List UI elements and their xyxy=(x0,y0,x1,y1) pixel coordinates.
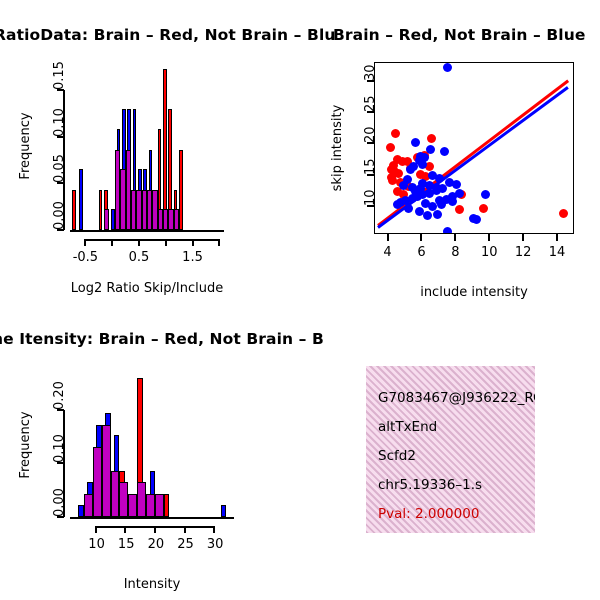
intensity_hist-x-tick xyxy=(184,526,186,533)
ratio_hist-x-ticklabel: -0.5 xyxy=(71,250,101,265)
scatter-point-blue xyxy=(411,138,420,147)
scatter-y-ticklabel: 20 xyxy=(363,127,378,144)
scatter-x-tick xyxy=(488,234,490,241)
scatter-y-ticklabel: 15 xyxy=(363,158,378,175)
scatter-x-ticklabel: 8 xyxy=(445,245,465,260)
intensity_hist-bar-overlap xyxy=(128,494,137,517)
intensity_hist-bar-overlap xyxy=(146,494,155,517)
intensity_hist-bar-overlap xyxy=(119,482,128,517)
ratio_hist-x-axis xyxy=(85,239,219,241)
ratio_hist-x-tick xyxy=(111,239,113,246)
intensity_hist-x-tick xyxy=(213,526,215,533)
ratio_hist-x-ticklabel: 0.5 xyxy=(128,250,150,265)
info-line: chr5.19336–1.s xyxy=(378,477,482,493)
scatter-point-blue xyxy=(418,160,427,169)
intensity_hist-y-ticklabel: 0.10 xyxy=(52,434,67,463)
scatter-point-blue xyxy=(393,200,402,209)
scatter-point-blue xyxy=(452,180,461,189)
ratio_hist-bar-overlap xyxy=(104,209,109,230)
scatter-point-blue xyxy=(421,199,430,208)
ratio_hist-x-ticklabel: 1.5 xyxy=(181,250,203,265)
intensity_hist-bar-overlap xyxy=(93,447,102,517)
intensity_hist-bar-overlap xyxy=(137,482,146,517)
scatter-x-tick xyxy=(556,234,558,241)
intensity_hist-bar-blue xyxy=(221,505,226,517)
scatter-point-blue xyxy=(481,190,490,199)
intensity_hist-x-ticklabel: 25 xyxy=(177,537,192,552)
scatter-y-ticklabel: 10 xyxy=(363,189,378,206)
info-panel: G7083467@J936222_RCaltTxEndScfd2chr5.193… xyxy=(366,366,535,533)
ratio_hist-x-tick xyxy=(192,239,194,246)
scatter-x-ticklabel: 4 xyxy=(378,245,398,260)
scatter-plot-frame xyxy=(374,62,574,234)
intensity_hist-bar-overlap xyxy=(84,494,93,517)
scatter-point-blue xyxy=(406,165,415,174)
info-line: G7083467@J936222_RC xyxy=(378,390,535,406)
ratio_hist-ylabel: Frequency xyxy=(18,112,33,179)
scatter-point-red xyxy=(386,143,395,152)
ratio_hist-bar-red xyxy=(72,190,76,230)
scatter-point-blue xyxy=(423,211,432,220)
intensity_hist-x-tick xyxy=(124,526,126,533)
intensity_hist-x-ticklabel: 10 xyxy=(88,537,103,552)
intensity_hist-x-tick xyxy=(95,526,97,533)
scatter-point-blue xyxy=(404,204,413,213)
intensity_hist-y-ticklabel: 0.20 xyxy=(52,381,67,410)
scatter-x-tick xyxy=(420,234,422,241)
intensity_hist-x-ticklabel: 20 xyxy=(148,537,163,552)
intensity_hist-title: ne Itensity: Brain – Red, Not Brain – B xyxy=(0,330,324,348)
scatter-point-blue xyxy=(426,145,435,154)
ratio_hist-xlabel: Log2 Ratio Skip/Include xyxy=(71,281,223,296)
scatter-x-tick xyxy=(387,234,389,241)
scatter-x-ticklabel: 10 xyxy=(479,245,499,260)
intensity_hist-bar-overlap xyxy=(111,471,120,517)
ratio_hist-y-ticklabel: 0.15 xyxy=(52,61,67,90)
ratio_hist-title: RatioData: Brain – Red, Not Brain – Blu xyxy=(0,26,336,44)
ratio_hist-y-ticklabel: 0.05 xyxy=(52,154,67,183)
scatter-x-ticklabel: 6 xyxy=(411,245,431,260)
ratio_hist-bar-red xyxy=(179,150,183,230)
scatter-xlabel: include intensity xyxy=(420,285,528,300)
scatter-point-blue xyxy=(433,210,442,219)
scatter-point-red xyxy=(427,134,436,143)
scatter-ylabel: skip intensity xyxy=(330,105,345,192)
scatter-point-red xyxy=(455,205,464,214)
scatter-x-tick xyxy=(522,234,524,241)
scatter-point-red xyxy=(391,129,400,138)
intensity_hist-xlabel: Intensity xyxy=(124,577,181,592)
info-line: Scfd2 xyxy=(378,448,416,464)
intensity_hist-x-ticklabel: 15 xyxy=(118,537,133,552)
ratio_hist-x-tick xyxy=(165,239,167,246)
scatter-point-blue xyxy=(435,196,444,205)
scatter-point-blue xyxy=(418,179,427,188)
scatter-point-blue xyxy=(440,147,449,156)
scatter-y-ticklabel: 30 xyxy=(363,64,378,81)
scatter-point-red xyxy=(394,169,403,178)
scatter-x-tick xyxy=(454,234,456,241)
ratio_hist-bar-red xyxy=(99,190,103,230)
scatter-point-blue xyxy=(472,215,481,224)
intensity_hist-bar-red xyxy=(164,494,169,517)
ratio_hist-bar-overlap xyxy=(174,209,179,230)
scatter-point-red xyxy=(479,204,488,213)
ratio_hist-baseline xyxy=(70,230,224,232)
scatter-point-blue xyxy=(435,174,444,183)
ratio_hist-y-ticklabel: 0.10 xyxy=(52,108,67,137)
intensity_hist-bar-overlap xyxy=(155,494,164,517)
ratio_hist-x-tick xyxy=(84,239,86,246)
intensity_hist-y-ticklabel: 0.00 xyxy=(52,488,67,517)
scatter-point-blue xyxy=(443,227,452,234)
scatter-y-ticklabel: 25 xyxy=(363,95,378,112)
scatter-point-blue xyxy=(432,183,441,192)
info-line: altTxEnd xyxy=(378,419,437,435)
scatter-point-red xyxy=(559,209,568,218)
intensity_hist-baseline xyxy=(70,517,234,519)
scatter-point-blue xyxy=(443,63,452,72)
scatter-x-ticklabel: 12 xyxy=(513,245,533,260)
scatter-x-ticklabel: 14 xyxy=(547,245,567,260)
scatter-title: Brain – Red, Not Brain – Blue xyxy=(333,26,585,44)
ratio_hist-bar-red xyxy=(163,69,167,230)
ratio_hist-x-tick xyxy=(218,239,220,246)
intensity_hist-x-tick xyxy=(154,526,156,533)
ratio_hist-bar-blue xyxy=(79,169,83,230)
figure-canvas: RatioData: Brain – Red, Not Brain – Blu0… xyxy=(0,0,600,600)
intensity_hist-bar-overlap xyxy=(102,425,111,517)
ratio_hist-y-ticklabel: 0.00 xyxy=(52,201,67,230)
ratio_hist-x-tick xyxy=(138,239,140,246)
intensity_hist-ylabel: Frequency xyxy=(18,411,33,478)
intensity_hist-x-ticklabel: 30 xyxy=(207,537,222,552)
pval-label: Pval: 2.000000 xyxy=(378,506,479,522)
